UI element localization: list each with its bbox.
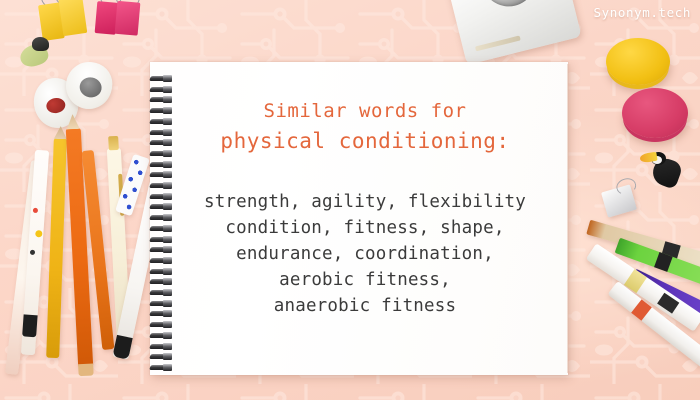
synonym-line: condition, fitness, shape, [180, 215, 550, 241]
bird-figurine [18, 37, 52, 67]
synonym-line: aerobic fitness, [180, 267, 550, 293]
yellow-macaron [606, 38, 670, 85]
binding-ring [150, 172, 174, 177]
binding-ring [150, 301, 174, 306]
binding-ring [150, 247, 174, 252]
binding-ring [150, 344, 174, 349]
binding-ring [150, 119, 174, 124]
synonym-line: strength, agility, flexibility [180, 189, 550, 215]
binding-ring [150, 333, 174, 338]
binding-ring [150, 269, 174, 274]
synonym-list: strength, agility, flexibilitycondition,… [180, 189, 550, 319]
binding-ring [150, 290, 174, 295]
binding-ring [150, 76, 174, 81]
binding-ring [150, 226, 174, 231]
binding-ring [150, 87, 174, 92]
binding-ring [150, 97, 174, 102]
binding-ring [150, 204, 174, 209]
pink-macaron [622, 88, 688, 138]
binding-ring [150, 237, 174, 242]
binding-ring [150, 151, 174, 156]
binding-ring [150, 365, 174, 370]
binding-ring [150, 162, 174, 167]
heading-line-1: Similar words for [180, 100, 550, 122]
binding-ring [150, 130, 174, 135]
spiral-binding [148, 62, 178, 375]
notepad-content: Similar words for physical conditioning:… [180, 62, 550, 319]
binding-ring [150, 194, 174, 199]
site-watermark: Synonym.tech [593, 5, 691, 20]
binding-ring [150, 108, 174, 113]
binding-ring [150, 322, 174, 327]
binding-ring [150, 311, 174, 316]
binding-ring [150, 258, 174, 263]
toucan-figurine [641, 150, 683, 188]
pink-binder-clip [94, 0, 143, 40]
binding-ring [150, 140, 174, 145]
heading-term: physical conditioning: [180, 129, 550, 154]
binding-ring [150, 183, 174, 188]
binding-ring [150, 354, 174, 359]
synonym-line: anaerobic fitness [180, 293, 550, 319]
synonym-line: endurance, coordination, [180, 241, 550, 267]
binding-ring [150, 279, 174, 284]
binding-ring [150, 215, 174, 220]
